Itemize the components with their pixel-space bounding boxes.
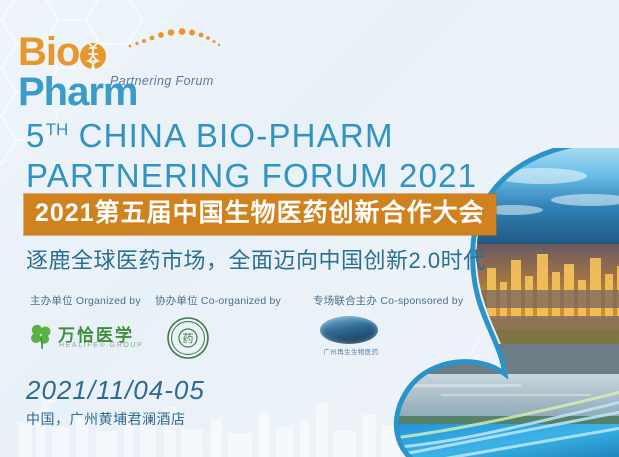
dna-bead-icon xyxy=(80,43,106,69)
circular-seal-icon: 药 · · · · · · · · xyxy=(166,316,210,360)
logo-bio-text: Bio xyxy=(18,30,79,74)
oval-photo-badge-icon xyxy=(320,316,378,344)
headline: 5TH CHINA BIO-PHARM PARTNERING FORUM 202… xyxy=(26,110,526,196)
headline-ordinal-suffix: TH xyxy=(46,120,69,139)
headline-line-2: PARTNERING FORUM 2021 xyxy=(26,156,526,196)
chinese-title-band: 2021第五届中国生物医药创新合作大会 xyxy=(24,194,496,235)
logo-pharma-seal: 药 · · · · · · · · xyxy=(166,316,210,360)
headline-line-1: 5TH CHINA BIO-PHARM xyxy=(26,110,526,156)
hexagon-watermark-right-icon xyxy=(429,257,619,427)
svg-text:· · ·: · · · xyxy=(185,352,192,357)
seal-character: 药 xyxy=(183,332,194,345)
organizer-label-co-organized-by: 协办单位 Co-organized by xyxy=(155,293,281,308)
clover-icon xyxy=(28,323,54,349)
headline-ordinal: 5 xyxy=(26,117,46,154)
organizer-label-co-sponsored-by: 专场联合主办 Co-sponsored by xyxy=(313,293,463,308)
logo-healife-group: 万恰医学 HEALIFE® GROUP xyxy=(28,316,143,360)
event-poster: BioPharm Partnering Forum 5TH CHINA BIO-… xyxy=(0,0,619,457)
chinese-subtitle: 逐鹿全球医药市场，全面迈向中国创新2.0时代 xyxy=(26,243,486,275)
logo-bio-island-cn: 广州再生生物医药 xyxy=(312,346,390,356)
event-venue: 中国，广州黄埔君澜酒店 xyxy=(26,409,186,429)
logo-healife-en: HEALIFE® GROUP xyxy=(59,342,143,349)
logo-tagline: Partnering Forum xyxy=(110,74,214,88)
event-date: 2021/11/04-05 xyxy=(26,375,205,406)
organizer-label-organized-by: 主办单位 Organized by xyxy=(30,293,141,308)
logo-bio-island: 广州再生生物医药 xyxy=(312,316,390,362)
organizer-labels: 主办单位 Organized by 协办单位 Co-organized by 专… xyxy=(30,293,460,309)
dna-helix-icon xyxy=(83,42,103,70)
headline-line1-main: CHINA BIO-PHARM xyxy=(79,117,394,154)
organizer-logos: 万恰医学 HEALIFE® GROUP 药 · · · · · · · · 广州… xyxy=(24,316,444,364)
biopharm-logo: BioPharm Partnering Forum xyxy=(18,26,218,92)
svg-text:· · · · ·: · · · · · xyxy=(182,321,194,326)
